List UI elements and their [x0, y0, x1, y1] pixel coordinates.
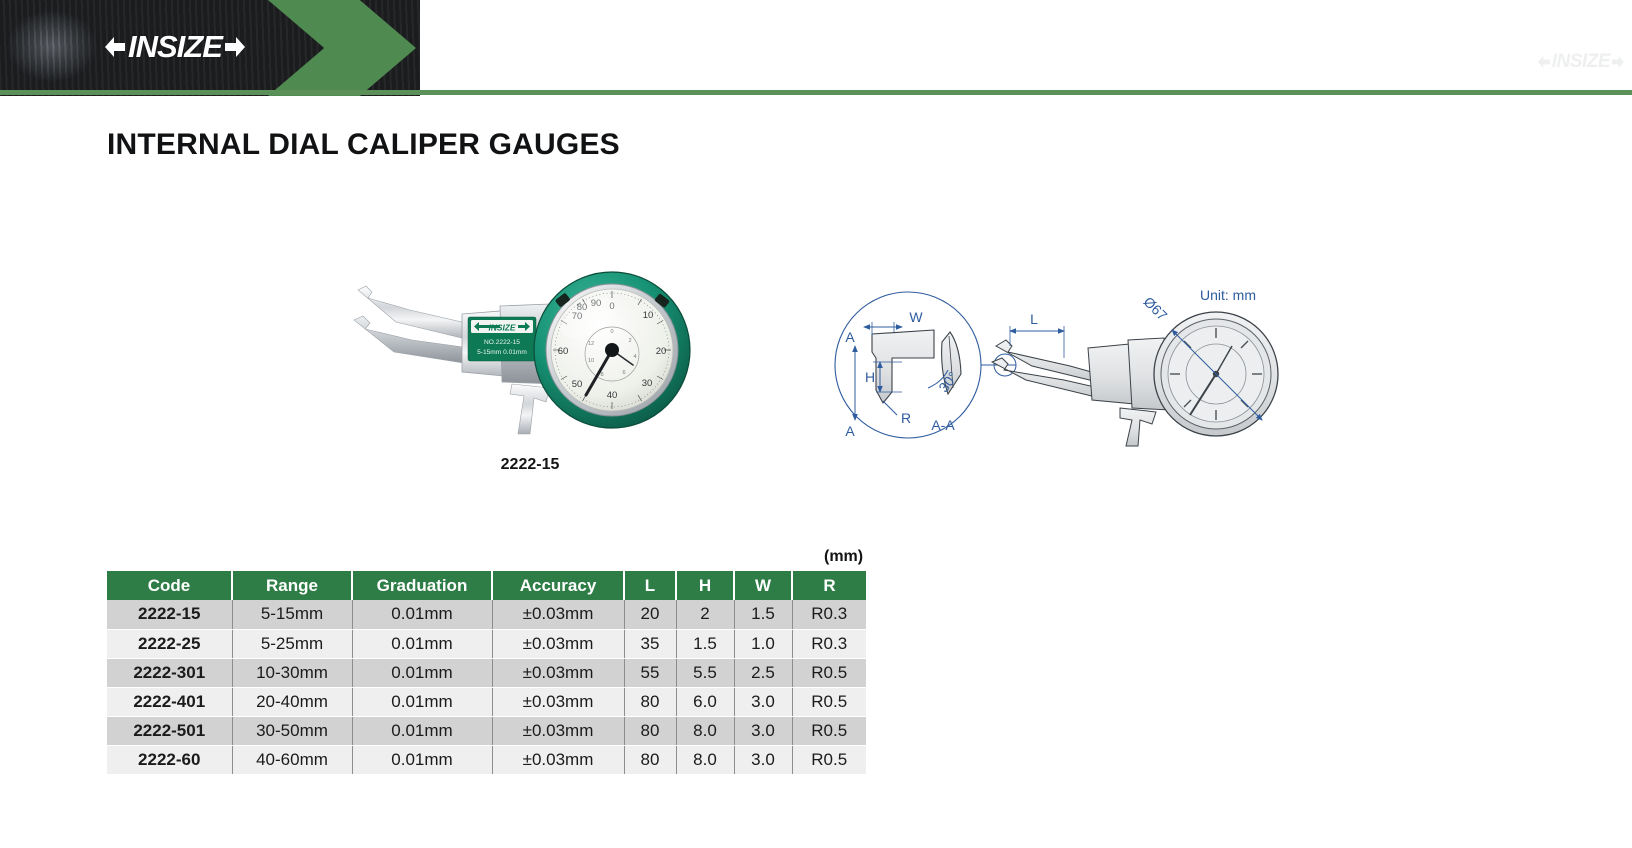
table-row: 2222-401 20-40mm 0.01mm ±0.03mm 80 6.0 3… — [107, 687, 866, 716]
col-header-r: R — [792, 571, 866, 600]
cell-range: 20-40mm — [232, 687, 352, 716]
cell-accuracy: ±0.03mm — [492, 687, 624, 716]
cell-range: 5-25mm — [232, 629, 352, 658]
col-header-code: Code — [107, 571, 232, 600]
svg-text:INSIZE: INSIZE — [489, 323, 516, 333]
svg-text:8: 8 — [600, 372, 603, 378]
svg-text:0: 0 — [610, 329, 613, 335]
cell-accuracy: ±0.03mm — [492, 658, 624, 687]
col-header-w: W — [734, 571, 792, 600]
label-radius: R — [901, 410, 911, 426]
svg-text:50: 50 — [572, 379, 583, 390]
cell-w: 3.0 — [734, 745, 792, 774]
label-width: W — [909, 309, 923, 325]
cell-h: 6.0 — [676, 687, 734, 716]
product-photo: INSIZE NO.2222-15 5-15mm 0.01mm — [350, 262, 710, 452]
cell-range: 10-30mm — [232, 658, 352, 687]
col-header-h: H — [676, 571, 734, 600]
cell-l: 20 — [624, 600, 676, 629]
cell-r: R0.5 — [792, 687, 866, 716]
cell-h: 2 — [676, 600, 734, 629]
label-diameter: Ø67 — [1141, 293, 1171, 323]
spec-table-wrapper: Code Range Graduation Accuracy L H W R 2… — [107, 571, 866, 775]
col-header-l: L — [624, 571, 676, 600]
svg-text:10: 10 — [643, 310, 654, 321]
table-row: 2222-301 10-30mm 0.01mm ±0.03mm 55 5.5 2… — [107, 658, 866, 687]
svg-text:2: 2 — [628, 338, 631, 344]
cell-accuracy: ±0.03mm — [492, 600, 624, 629]
cell-range: 30-50mm — [232, 716, 352, 745]
cell-range: 40-60mm — [232, 745, 352, 774]
cell-graduation: 0.01mm — [352, 629, 492, 658]
catalog-page: INSIZE INSIZE INTERNAL DIAL CALIPER GAUG… — [0, 0, 1632, 848]
label-height: H — [865, 369, 875, 385]
cell-h: 5.5 — [676, 658, 734, 687]
cell-w: 3.0 — [734, 716, 792, 745]
specification-table: Code Range Graduation Accuracy L H W R 2… — [107, 571, 866, 775]
cell-accuracy: ±0.03mm — [492, 716, 624, 745]
cell-l: 55 — [624, 658, 676, 687]
cell-r: R0.5 — [792, 745, 866, 774]
cell-graduation: 0.01mm — [352, 745, 492, 774]
cell-graduation: 0.01mm — [352, 600, 492, 629]
cell-w: 3.0 — [734, 687, 792, 716]
table-unit-note: (mm) — [824, 548, 863, 566]
cell-code: 2222-501 — [107, 716, 232, 745]
arrow-right-icon — [1612, 54, 1624, 70]
cell-code: 2222-60 — [107, 745, 232, 774]
insize-logo: INSIZE — [105, 34, 245, 60]
col-header-accuracy: Accuracy — [492, 571, 624, 600]
cell-r: R0.3 — [792, 600, 866, 629]
cell-r: R0.5 — [792, 716, 866, 745]
cell-l: 80 — [624, 745, 676, 774]
cell-accuracy: ±0.03mm — [492, 745, 624, 774]
table-row: 2222-501 30-50mm 0.01mm ±0.03mm 80 8.0 3… — [107, 716, 866, 745]
cell-l: 80 — [624, 716, 676, 745]
cell-w: 1.0 — [734, 629, 792, 658]
svg-text:6: 6 — [622, 370, 625, 376]
table-header-row: Code Range Graduation Accuracy L H W R — [107, 571, 866, 600]
svg-text:20: 20 — [656, 346, 667, 357]
cell-code: 2222-25 — [107, 629, 232, 658]
cell-l: 35 — [624, 629, 676, 658]
label-section-view: A-A — [931, 417, 955, 433]
table-row: 2222-25 5-25mm 0.01mm ±0.03mm 35 1.5 1.0… — [107, 629, 866, 658]
col-header-range: Range — [232, 571, 352, 600]
cell-w: 2.5 — [734, 658, 792, 687]
page-title: INTERNAL DIAL CALIPER GAUGES — [107, 128, 620, 162]
label-section-a-top: A — [845, 329, 855, 345]
header-green-rule — [0, 90, 1632, 95]
cell-l: 80 — [624, 687, 676, 716]
cell-h: 8.0 — [676, 716, 734, 745]
svg-text:4: 4 — [633, 354, 636, 360]
product-caption: 2222-15 — [350, 456, 710, 474]
cell-code: 2222-401 — [107, 687, 232, 716]
cell-graduation: 0.01mm — [352, 687, 492, 716]
cell-range: 5-15mm — [232, 600, 352, 629]
svg-text:30: 30 — [642, 378, 653, 389]
svg-text:5-15mm 0.01mm: 5-15mm 0.01mm — [477, 349, 527, 356]
svg-text:60: 60 — [558, 346, 569, 357]
cell-r: R0.5 — [792, 658, 866, 687]
cell-h: 8.0 — [676, 745, 734, 774]
page-header-banner: INSIZE INSIZE — [0, 0, 1632, 96]
dial-caliper-gauge-illustration: INSIZE NO.2222-15 5-15mm 0.01mm — [350, 262, 710, 452]
arrow-right-icon — [225, 34, 245, 60]
cell-r: R0.3 — [792, 629, 866, 658]
insize-watermark-logo: INSIZE — [1538, 54, 1624, 70]
cell-h: 1.5 — [676, 629, 734, 658]
col-header-graduation: Graduation — [352, 571, 492, 600]
arrow-left-icon — [105, 34, 125, 60]
table-row: 2222-15 5-15mm 0.01mm ±0.03mm 20 2 1.5 R… — [107, 600, 866, 629]
svg-text:10: 10 — [588, 358, 594, 364]
cell-accuracy: ±0.03mm — [492, 629, 624, 658]
cell-w: 1.5 — [734, 600, 792, 629]
cell-code: 2222-15 — [107, 600, 232, 629]
insize-logo-text: INSIZE — [128, 34, 222, 60]
cell-graduation: 0.01mm — [352, 716, 492, 745]
cell-code: 2222-301 — [107, 658, 232, 687]
label-length: L — [1030, 311, 1038, 327]
insize-watermark-text: INSIZE — [1552, 54, 1610, 70]
label-section-a-bottom: A — [845, 423, 855, 439]
svg-text:NO.2222-15: NO.2222-15 — [484, 339, 520, 346]
table-row: 2222-60 40-60mm 0.01mm ±0.03mm 80 8.0 3.… — [107, 745, 866, 774]
svg-text:12: 12 — [588, 341, 594, 347]
arrow-left-icon — [1538, 54, 1550, 70]
cell-graduation: 0.01mm — [352, 658, 492, 687]
unit-note: Unit: mm — [1200, 287, 1256, 303]
svg-text:40: 40 — [607, 390, 618, 401]
